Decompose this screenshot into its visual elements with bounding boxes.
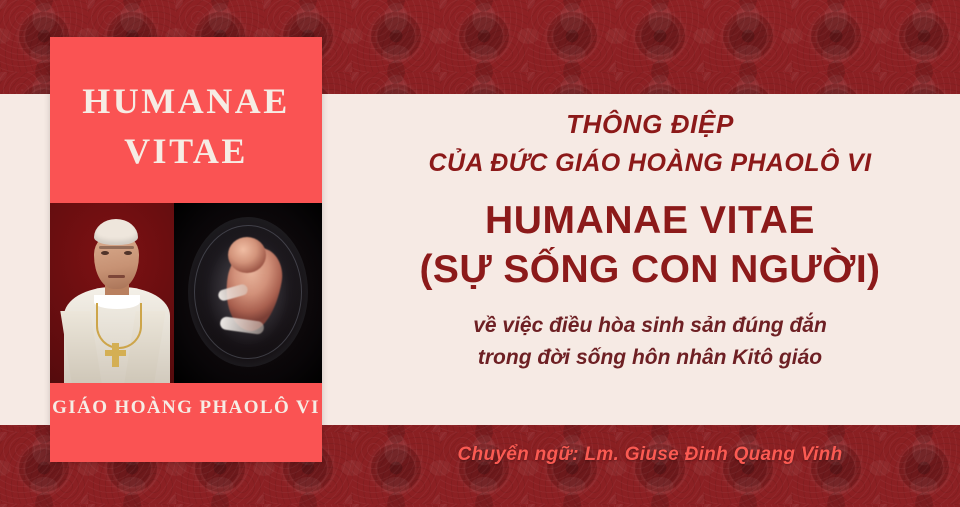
fetus-ultrasound-photo — [174, 203, 322, 383]
kicker-line-1: THÔNG ĐIỆP — [340, 108, 960, 141]
subtitle-line-2: trong đời sống hôn nhân Kitô giáo — [340, 342, 960, 374]
book-cover: HUMANAE VITAE — [50, 37, 322, 462]
fetus-head — [228, 237, 266, 273]
book-cover-title: HUMANAE VITAE — [50, 77, 322, 176]
book-cover-title-line-2: VITAE — [50, 127, 322, 177]
main-title-line-1: HUMANAE VITAE — [340, 197, 960, 245]
kicker-line-2: CỦA ĐỨC GIÁO HOÀNG PHAOLÔ VI — [340, 147, 960, 179]
pope-zucchetto-icon — [94, 219, 138, 245]
pope-brow — [99, 246, 134, 249]
pope-eyes — [101, 251, 132, 255]
pectoral-cross-icon — [112, 343, 119, 367]
book-cover-photos — [50, 203, 322, 383]
headline-text-block: THÔNG ĐIỆP CỦA ĐỨC GIÁO HOÀNG PHAOLÔ VI … — [340, 94, 960, 425]
pope-mouth — [108, 275, 125, 278]
pectoral-chain — [96, 303, 142, 349]
subtitle-line-1: về việc điều hòa sinh sản đúng đắn — [340, 310, 960, 342]
poster-canvas: HUMANAE VITAE — [0, 0, 960, 507]
book-cover-title-line-1: HUMANAE — [50, 77, 322, 127]
pope-portrait-photo — [50, 203, 174, 383]
book-cover-author: GIÁO HOÀNG PHAOLÔ VI — [50, 397, 322, 419]
main-title-line-2: (SỰ SỐNG CON NGƯỜI) — [340, 246, 960, 294]
translator-credit: Chuyển ngữ: Lm. Giuse Đinh Quang Vinh — [340, 444, 960, 466]
